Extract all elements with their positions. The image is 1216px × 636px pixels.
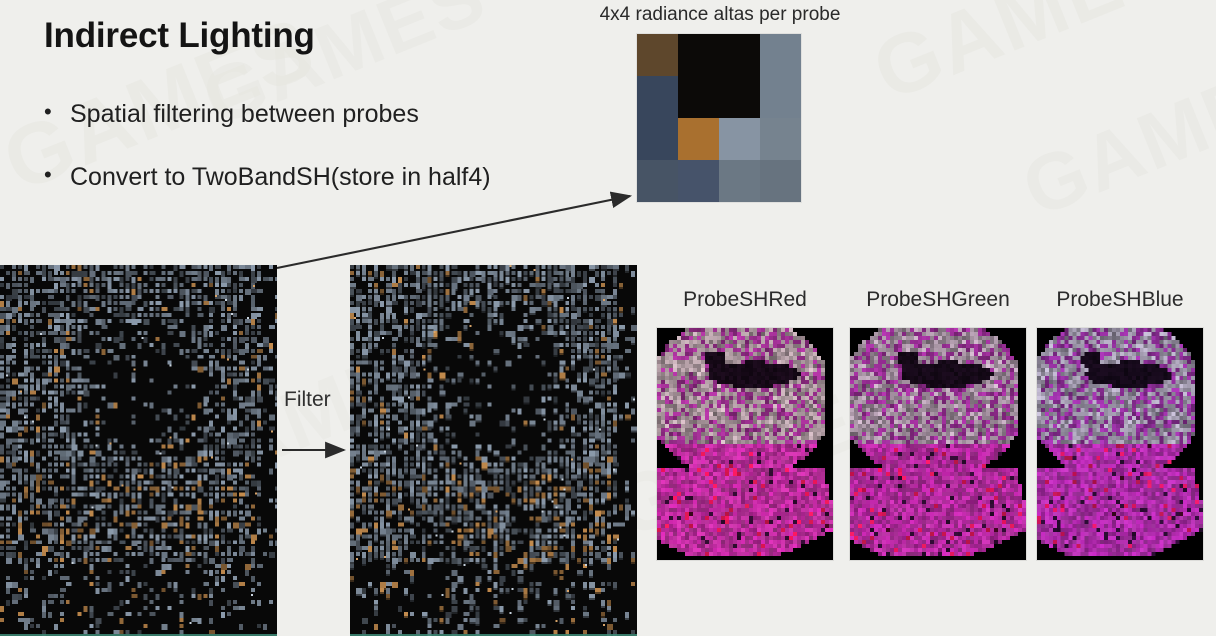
atlas-texture-filtered [350,265,637,636]
slide-canvas: GAMES GAMES GAMES GAMES GAMES GAMES Indi… [0,0,1216,636]
probe-image-blue [1037,328,1203,560]
atlas-cell-14 [719,160,760,202]
bullet-text-1: Spatial filtering between probes [70,100,419,129]
probe-canvas-green [850,328,1026,560]
probe-label-green: ProbeSHGreen [850,288,1026,312]
watermark-games-4: GAMES [1010,36,1216,235]
probe-image-green [850,328,1026,560]
atlas-cell-0 [637,34,678,76]
bullet-text-2: Convert to TwoBandSH(store in half4) [70,163,491,192]
probe-label-blue: ProbeSHBlue [1037,288,1203,312]
probe-canvas-blue [1037,328,1203,560]
atlas-cell-4 [637,76,678,118]
atlas-caption: 4x4 radiance altas per probe [570,4,870,26]
atlas-cell-12 [637,160,678,202]
atlas-cell-1 [678,34,719,76]
page-title: Indirect Lighting [44,16,315,56]
atlas-cell-7 [760,76,801,118]
bullet-marker-icon: • [44,163,70,187]
arrow-atlas-to-probe [277,196,630,268]
bullet-item-2: • Convert to TwoBandSH(store in half4) [44,163,491,192]
texture-panel-unfiltered [0,265,277,636]
atlas-cell-10 [719,118,760,160]
atlas-cell-9 [678,118,719,160]
bullet-item-1: • Spatial filtering between probes [44,100,419,129]
texture-panel-filtered [350,265,637,636]
atlas-cell-15 [760,160,801,202]
bullet-marker-icon: • [44,100,70,124]
atlas-cell-13 [678,160,719,202]
probe-label-red: ProbeSHRed [657,288,833,312]
probe-canvas-red [657,328,833,560]
filter-label: Filter [284,388,331,412]
atlas-texture-unfiltered [0,265,277,636]
radiance-atlas-4x4-grid [637,34,801,202]
atlas-cell-11 [760,118,801,160]
probe-image-red [657,328,833,560]
atlas-cell-2 [719,34,760,76]
atlas-cell-5 [678,76,719,118]
atlas-cell-3 [760,34,801,76]
atlas-cell-6 [719,76,760,118]
atlas-cell-8 [637,118,678,160]
